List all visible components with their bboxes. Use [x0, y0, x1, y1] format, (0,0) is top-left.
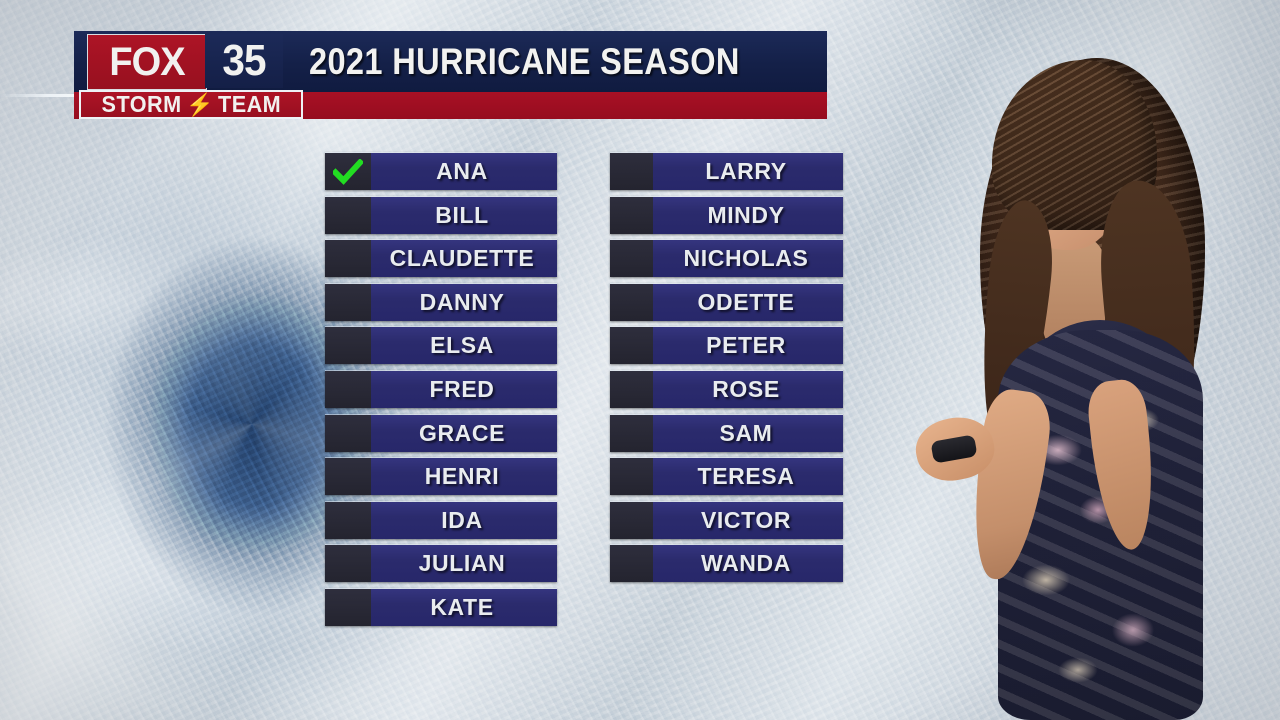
- storm-name-checkbox[interactable]: [610, 415, 653, 452]
- storm-name-label: GRACE: [371, 415, 557, 452]
- storm-name-label: DANNY: [371, 284, 557, 321]
- storm-name-label: SAM: [653, 415, 843, 452]
- storm-name-checkbox[interactable]: [610, 240, 653, 277]
- fox-wordmark: FOX: [91, 35, 203, 89]
- storm-name-label: ANA: [371, 153, 557, 190]
- team-word: TEAM: [218, 93, 281, 116]
- storm-team-bar: STORM ⚡ TEAM: [79, 90, 303, 119]
- storm-name-list-right: LARRYMINDYNICHOLASODETTEPETERROSESAMTERE…: [610, 152, 843, 588]
- storm-name-row[interactable]: JULIAN: [325, 544, 557, 582]
- storm-name-row[interactable]: CLAUDETTE: [325, 239, 557, 277]
- storm-name-list-left: ANABILLCLAUDETTEDANNYELSAFREDGRACEHENRII…: [325, 152, 557, 632]
- storm-name-label: IDA: [371, 502, 557, 539]
- storm-name-row[interactable]: KATE: [325, 588, 557, 626]
- storm-name-checkbox[interactable]: [325, 545, 371, 582]
- storm-name-checkbox[interactable]: [610, 371, 653, 408]
- storm-name-row[interactable]: WANDA: [610, 544, 843, 582]
- meteorologist-presenter: [880, 0, 1280, 720]
- storm-word: STORM: [102, 93, 182, 116]
- storm-name-label: ELSA: [371, 327, 557, 364]
- storm-name-label: NICHOLAS: [653, 240, 843, 277]
- storm-name-checkbox[interactable]: [325, 458, 371, 495]
- storm-name-label: ROSE: [653, 371, 843, 408]
- channel-number: 35: [208, 34, 280, 88]
- channel-number-box: 35: [205, 34, 283, 88]
- storm-name-checkbox[interactable]: [610, 153, 653, 190]
- storm-name-label: BILL: [371, 197, 557, 234]
- storm-name-row[interactable]: ANA: [325, 152, 557, 190]
- storm-name-row[interactable]: GRACE: [325, 414, 557, 452]
- storm-name-checkbox[interactable]: [610, 502, 653, 539]
- storm-name-row[interactable]: IDA: [325, 501, 557, 539]
- storm-used-checkmark-icon[interactable]: [325, 153, 371, 190]
- storm-name-checkbox[interactable]: [325, 327, 371, 364]
- storm-name-label: PETER: [653, 327, 843, 364]
- storm-name-label: LARRY: [653, 153, 843, 190]
- storm-name-label: JULIAN: [371, 545, 557, 582]
- storm-name-row[interactable]: ODETTE: [610, 283, 843, 321]
- storm-name-checkbox[interactable]: [325, 284, 371, 321]
- storm-name-checkbox[interactable]: [325, 197, 371, 234]
- broadcast-weather-screen: 2021 HURRICANE SEASON FOX 35 STORM ⚡ TEA…: [0, 0, 1280, 720]
- storm-name-row[interactable]: FRED: [325, 370, 557, 408]
- storm-name-checkbox[interactable]: [610, 197, 653, 234]
- storm-name-checkbox[interactable]: [325, 240, 371, 277]
- storm-name-row[interactable]: TERESA: [610, 457, 843, 495]
- storm-name-checkbox[interactable]: [325, 589, 371, 626]
- storm-name-row[interactable]: VICTOR: [610, 501, 843, 539]
- storm-name-row[interactable]: DANNY: [325, 283, 557, 321]
- fox-logo-box: FOX: [87, 34, 207, 90]
- storm-name-label: TERESA: [653, 458, 843, 495]
- storm-name-label: WANDA: [653, 545, 843, 582]
- storm-name-row[interactable]: NICHOLAS: [610, 239, 843, 277]
- storm-name-checkbox[interactable]: [610, 545, 653, 582]
- storm-name-checkbox[interactable]: [325, 502, 371, 539]
- page-title: 2021 HURRICANE SEASON: [309, 31, 740, 92]
- storm-name-checkbox[interactable]: [610, 327, 653, 364]
- storm-name-checkbox[interactable]: [325, 371, 371, 408]
- storm-name-row[interactable]: PETER: [610, 326, 843, 364]
- storm-name-row[interactable]: HENRI: [325, 457, 557, 495]
- storm-name-row[interactable]: MINDY: [610, 196, 843, 234]
- storm-name-row[interactable]: ROSE: [610, 370, 843, 408]
- storm-name-label: FRED: [371, 371, 557, 408]
- storm-name-row[interactable]: BILL: [325, 196, 557, 234]
- lightning-bolt-icon: ⚡: [185, 94, 214, 116]
- fox-35-storm-team-logo: FOX 35 STORM ⚡ TEAM: [87, 34, 315, 119]
- storm-name-row[interactable]: SAM: [610, 414, 843, 452]
- storm-name-label: KATE: [371, 589, 557, 626]
- storm-name-label: MINDY: [653, 197, 843, 234]
- storm-name-checkbox[interactable]: [610, 284, 653, 321]
- storm-name-checkbox[interactable]: [610, 458, 653, 495]
- storm-name-label: CLAUDETTE: [371, 240, 557, 277]
- storm-name-label: HENRI: [371, 458, 557, 495]
- storm-name-label: ODETTE: [653, 284, 843, 321]
- storm-name-row[interactable]: ELSA: [325, 326, 557, 364]
- storm-name-label: VICTOR: [653, 502, 843, 539]
- storm-name-checkbox[interactable]: [325, 415, 371, 452]
- header-accent-line: [0, 94, 80, 97]
- storm-name-row[interactable]: LARRY: [610, 152, 843, 190]
